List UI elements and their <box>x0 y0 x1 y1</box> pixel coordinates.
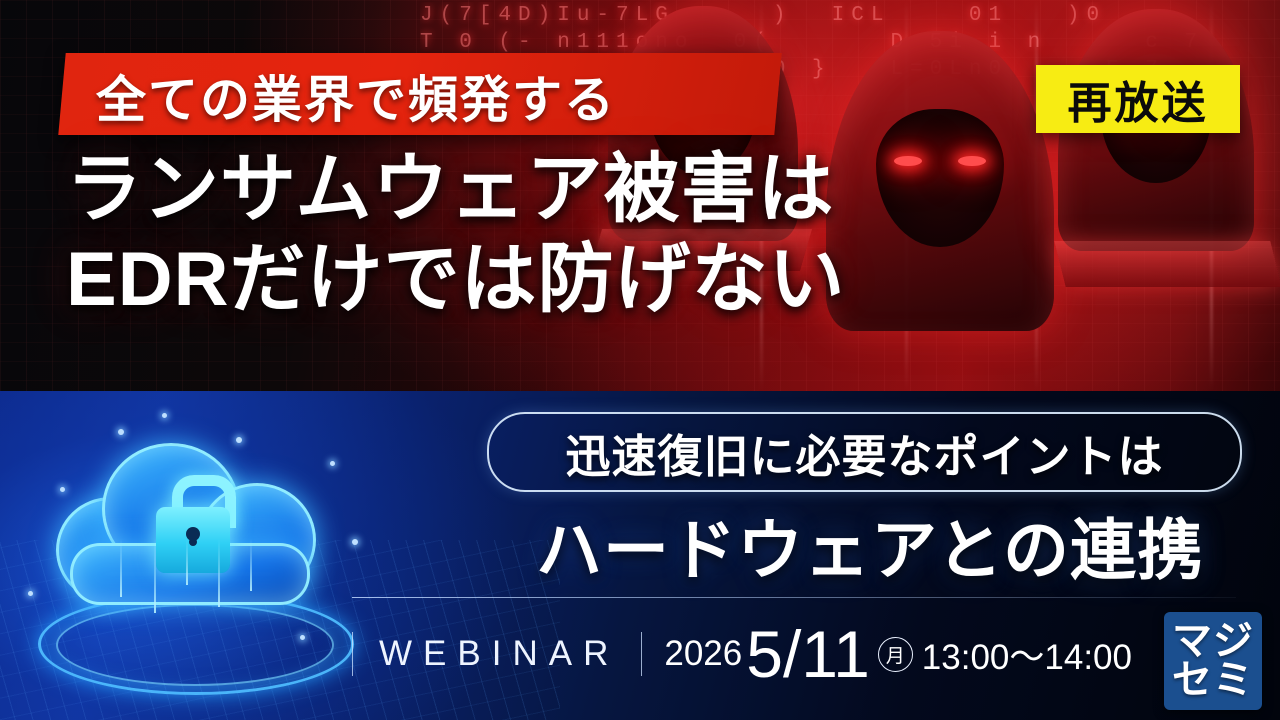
headline-line-2: EDRだけでは防げない <box>66 242 1226 318</box>
sub-headline: ハードウェアとの連携 <box>470 497 1270 593</box>
top-hacker-section: J(7[4D)Iu-7LG ) ICL 01 )0 T 0 (- n111ono… <box>0 0 1280 391</box>
ribbon-text: 全ての業界で頻発する <box>96 58 796 134</box>
divider <box>352 597 1236 598</box>
main-headline: ランサムウェア被害は EDRだけでは防げない <box>66 152 1226 318</box>
cloud-lock-graphic <box>28 411 358 701</box>
day-of-week-badge: 月 <box>878 637 913 672</box>
orbit-ring-inner-icon <box>56 604 334 686</box>
event-time-range: 13:00～14:00 <box>922 629 1132 680</box>
keyhole-icon <box>186 527 200 541</box>
data-stream <box>154 539 156 613</box>
data-stream <box>218 539 220 607</box>
rebroadcast-badge: 再放送 <box>1036 65 1240 133</box>
headline-line-1: ランサムウェア被害は <box>66 152 1226 228</box>
webinar-label: WEBINAR <box>379 634 619 674</box>
majisemi-logo[interactable]: マジ セミ <box>1164 612 1262 710</box>
rebroadcast-badge-label: 再放送 <box>1068 67 1209 131</box>
data-stream <box>250 539 252 591</box>
webinar-banner: J(7[4D)Iu-7LG ) ICL 01 )0 T 0 (- n111ono… <box>0 0 1280 720</box>
subtitle-pill-text: 迅速復旧に必要なポイントは <box>565 420 1163 485</box>
event-year: 2026 <box>664 634 742 674</box>
data-stream <box>120 539 122 597</box>
data-stream <box>186 539 188 585</box>
webinar-meta-row: WEBINAR 2026 5/11 月 13:00～14:00 <box>352 612 1182 696</box>
logo-line-1: マジ <box>1172 622 1254 661</box>
subtitle-pill: 迅速復旧に必要なポイントは <box>487 412 1242 492</box>
logo-line-2: セミ <box>1172 661 1254 700</box>
meta-divider <box>352 632 353 676</box>
event-month-day: 5/11 <box>746 621 870 687</box>
meta-divider <box>641 632 642 676</box>
